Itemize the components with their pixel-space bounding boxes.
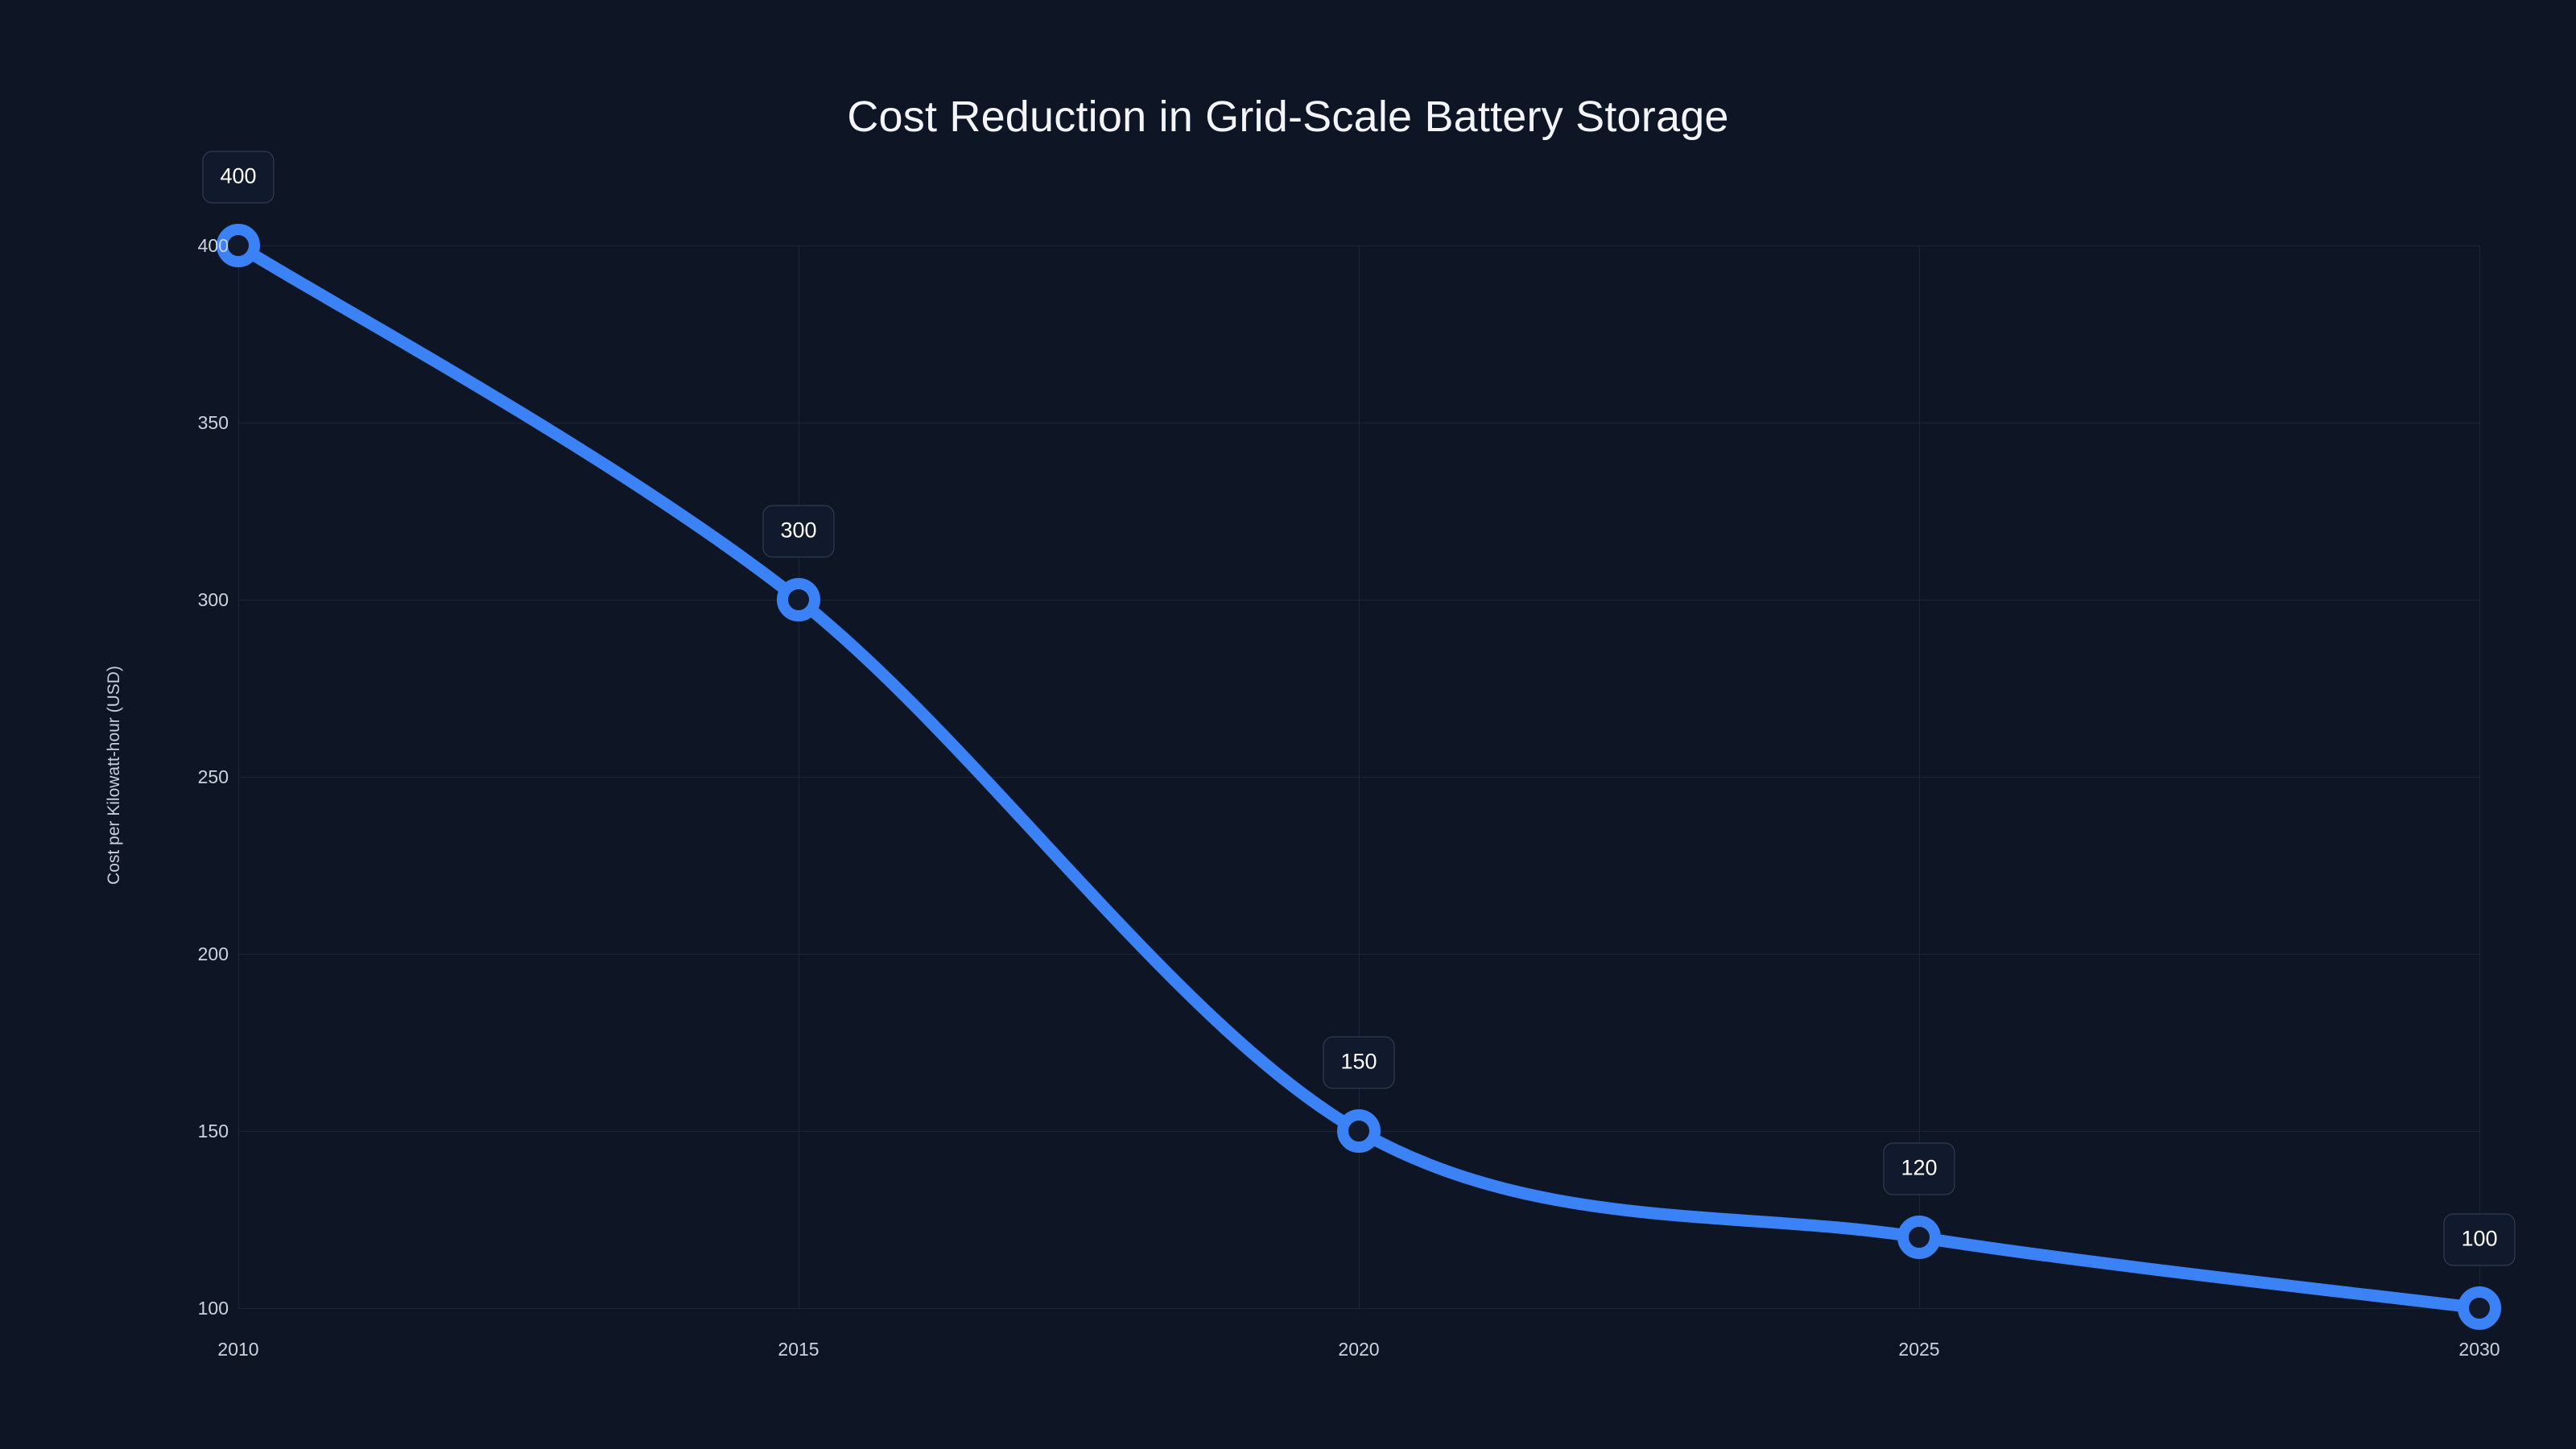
y-axis-tick-label: 350 — [132, 414, 229, 432]
x-axis-tick-label: 2020 — [1278, 1340, 1439, 1359]
y-axis-tick-label: 100 — [132, 1299, 229, 1318]
series-layer — [0, 0, 2576, 1449]
x-axis-tick-label: 2010 — [158, 1340, 319, 1359]
x-axis-tick-label: 2015 — [718, 1340, 879, 1359]
data-point-label-badge: 300 — [762, 506, 834, 558]
x-axis-tick-label: 2025 — [1839, 1340, 2000, 1359]
y-axis-tick-label: 400 — [132, 237, 229, 255]
y-axis-tick-label: 150 — [132, 1122, 229, 1141]
x-axis-tick-label: 2030 — [2399, 1340, 2560, 1359]
data-point-marker[interactable] — [1903, 1221, 1935, 1253]
y-axis-tick-label: 200 — [132, 945, 229, 964]
y-axis-tick-label: 250 — [132, 768, 229, 786]
data-point-marker[interactable] — [2463, 1292, 2495, 1324]
data-point-marker[interactable] — [1343, 1115, 1375, 1147]
data-point-label-badge: 400 — [202, 151, 274, 204]
series-markers — [222, 229, 2495, 1324]
y-axis-tick-label: 300 — [132, 591, 229, 609]
data-point-marker[interactable] — [782, 584, 815, 616]
data-point-label-badge: 100 — [2443, 1214, 2515, 1266]
data-point-label-badge: 150 — [1323, 1037, 1394, 1089]
data-point-label-badge: 120 — [1883, 1143, 1955, 1195]
line-chart: Cost Reduction in Grid-Scale Battery Sto… — [0, 0, 2576, 1449]
